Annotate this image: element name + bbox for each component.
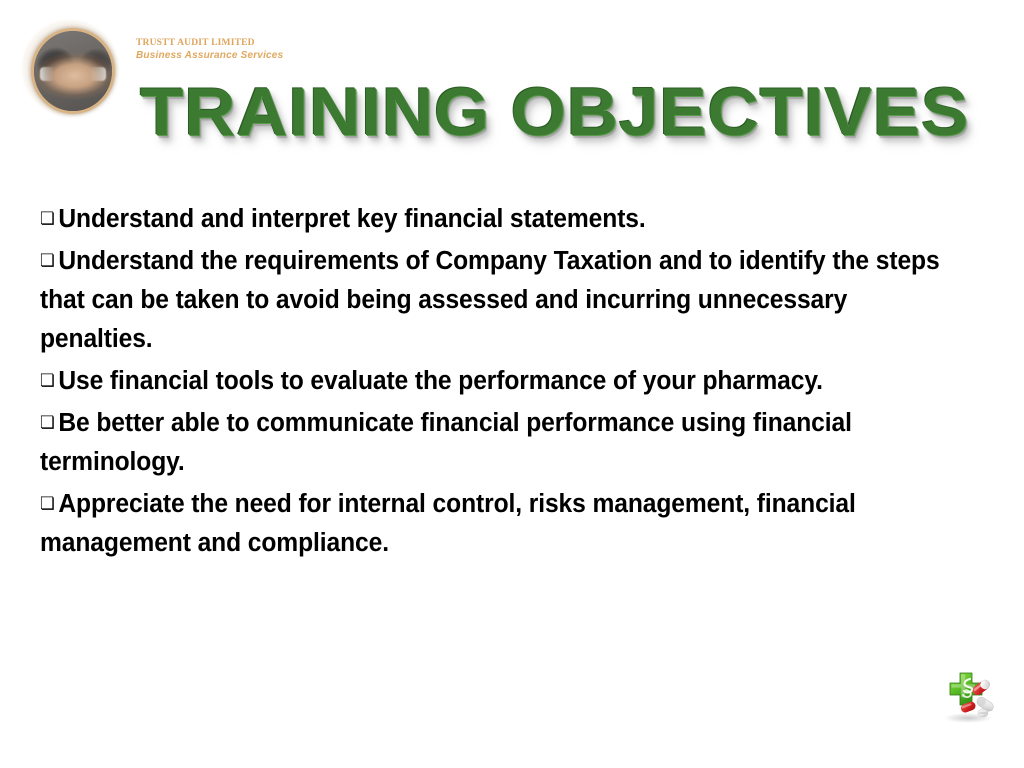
square-bullet-icon: ❏	[40, 484, 58, 523]
list-item-text: Understand and interpret key financial s…	[58, 205, 645, 233]
list-item-text: Understand the requirements of Company T…	[40, 247, 940, 353]
handshake-logo-icon	[22, 20, 118, 116]
list-item-text: Be better able to communicate financial …	[40, 409, 852, 476]
square-bullet-icon: ❏	[40, 403, 58, 442]
presentation-slide: TRUSTT AUDIT LIMITED Business Assurance …	[0, 0, 1024, 768]
handshake-photo	[34, 31, 112, 111]
logo-tagline: Business Assurance Services	[136, 50, 316, 62]
list-item: ❏Be better able to communicate financial…	[40, 404, 959, 482]
list-item: ❏Understand and interpret key financial …	[40, 200, 959, 239]
list-item-text: Appreciate the need for internal control…	[40, 490, 856, 557]
logo-company-name: TRUSTT AUDIT LIMITED	[136, 38, 316, 49]
square-bullet-icon: ❏	[40, 241, 58, 280]
pharmacy-cross-pills-icon	[936, 666, 998, 724]
list-item: ❏Use financial tools to evaluate the per…	[40, 362, 959, 401]
square-bullet-icon: ❏	[40, 361, 58, 400]
list-item-text: Use financial tools to evaluate the perf…	[58, 367, 823, 395]
list-item: ❏Understand the requirements of Company …	[40, 242, 959, 359]
logo-ring	[31, 28, 115, 114]
list-item: ❏Appreciate the need for internal contro…	[40, 485, 959, 563]
square-bullet-icon: ❏	[40, 199, 58, 238]
logo-text-block: TRUSTT AUDIT LIMITED Business Assurance …	[136, 38, 316, 62]
objectives-list: ❏Understand and interpret key financial …	[40, 200, 992, 566]
slide-title: TRAINING OBJECTIVES	[140, 72, 982, 152]
